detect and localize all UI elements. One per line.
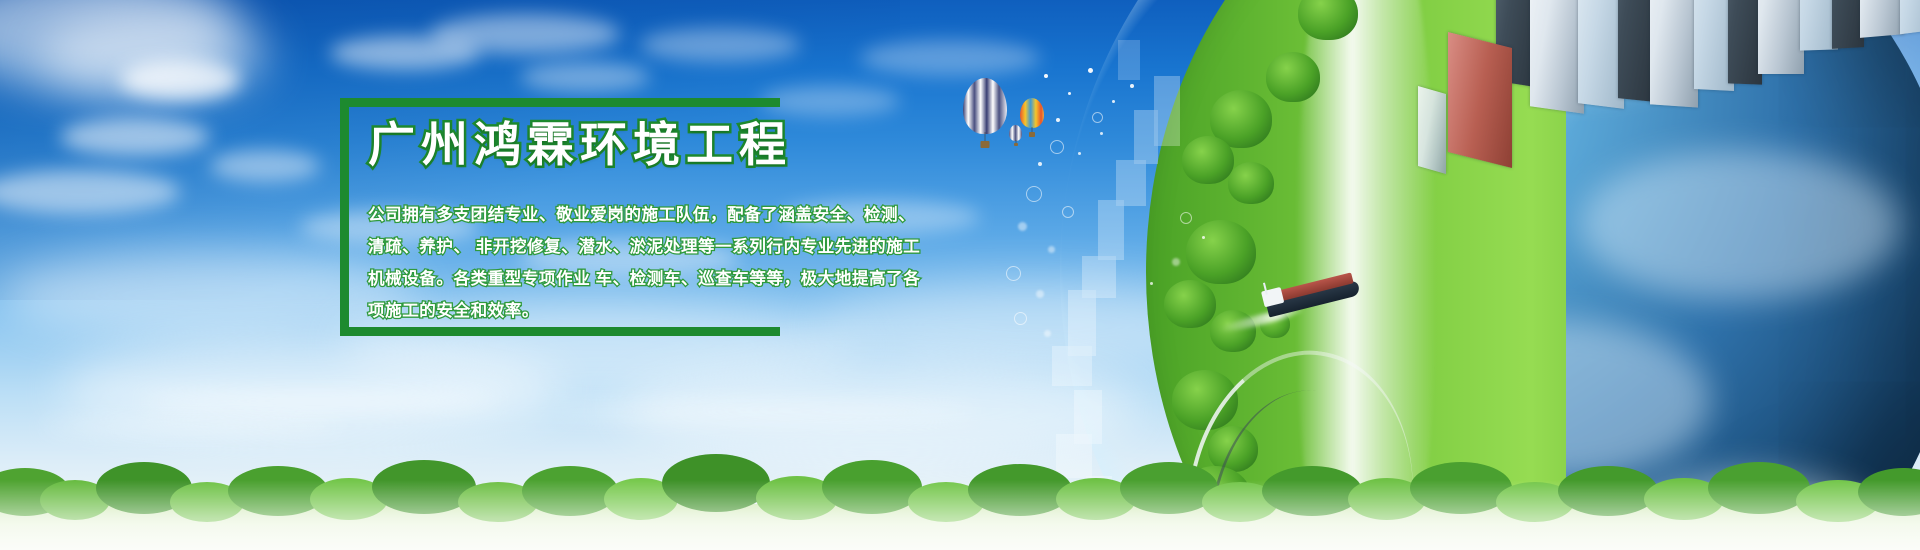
frame-top-edge bbox=[340, 98, 780, 107]
description-line: 项施工的安全和效率。 bbox=[368, 295, 888, 327]
banner-description: 公司拥有多支团结专业、敬业爱岗的施工队伍，配备了涵盖安全、检测、 清疏、养护、 … bbox=[368, 199, 888, 328]
hero-banner: 广州鸿霖环境工程 公司拥有多支团结专业、敬业爱岗的施工队伍，配备了涵盖安全、检测… bbox=[0, 0, 1920, 550]
frame-bottom-edge bbox=[340, 327, 780, 336]
description-line: 机械设备。各类重型专项作业 车、检测车、巡查车等等，极大地提高了各 bbox=[368, 263, 888, 295]
description-line: 清疏、养护、 非开挖修复、潜水、淤泥处理等一系列行内专业先进的施工 bbox=[368, 231, 888, 263]
frame-left-edge bbox=[340, 98, 349, 336]
hot-air-balloon-small bbox=[1020, 98, 1044, 128]
description-line: 公司拥有多支团结专业、敬业爱岗的施工队伍，配备了涵盖安全、检测、 bbox=[368, 199, 888, 231]
grass-haze bbox=[0, 480, 1920, 550]
banner-copy: 广州鸿霖环境工程 公司拥有多支团结专业、敬业爱岗的施工队伍，配备了涵盖安全、检测… bbox=[368, 118, 888, 327]
hot-air-balloon-tiny bbox=[1009, 125, 1022, 141]
hot-air-balloon-large bbox=[963, 78, 1007, 134]
banner-title: 广州鸿霖环境工程 bbox=[368, 118, 888, 173]
tree-line bbox=[0, 410, 1920, 550]
